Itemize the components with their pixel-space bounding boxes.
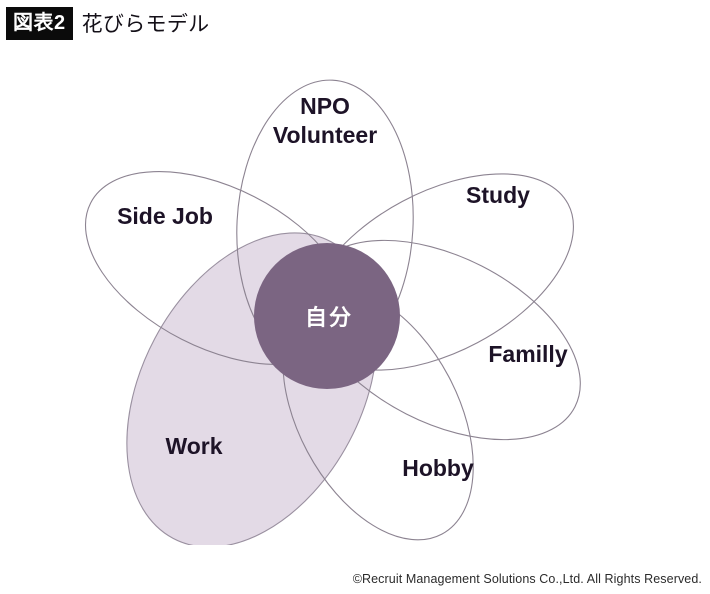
petal-model-diagram: NPO Volunteer Study Familly Hobby Work S… bbox=[0, 40, 710, 545]
petal-diagram-svg: NPO Volunteer Study Familly Hobby Work S… bbox=[0, 40, 710, 545]
petal-label-work: Work bbox=[165, 433, 222, 459]
copyright-notice: ©Recruit Management Solutions Co.,Ltd. A… bbox=[0, 572, 710, 586]
petal-label-volunteer: Volunteer bbox=[273, 122, 377, 148]
petal-label-familly: Familly bbox=[488, 341, 567, 367]
petal-label-side-job: Side Job bbox=[117, 203, 213, 229]
petal-label-npo: NPO bbox=[300, 93, 350, 119]
page-title: 花びらモデル bbox=[82, 8, 210, 38]
petal-label-hobby: Hobby bbox=[402, 455, 474, 481]
figure-number-badge: 図表2 bbox=[6, 7, 73, 40]
core-label-self: 自分 bbox=[305, 305, 353, 330]
petal-label-study: Study bbox=[466, 182, 530, 208]
